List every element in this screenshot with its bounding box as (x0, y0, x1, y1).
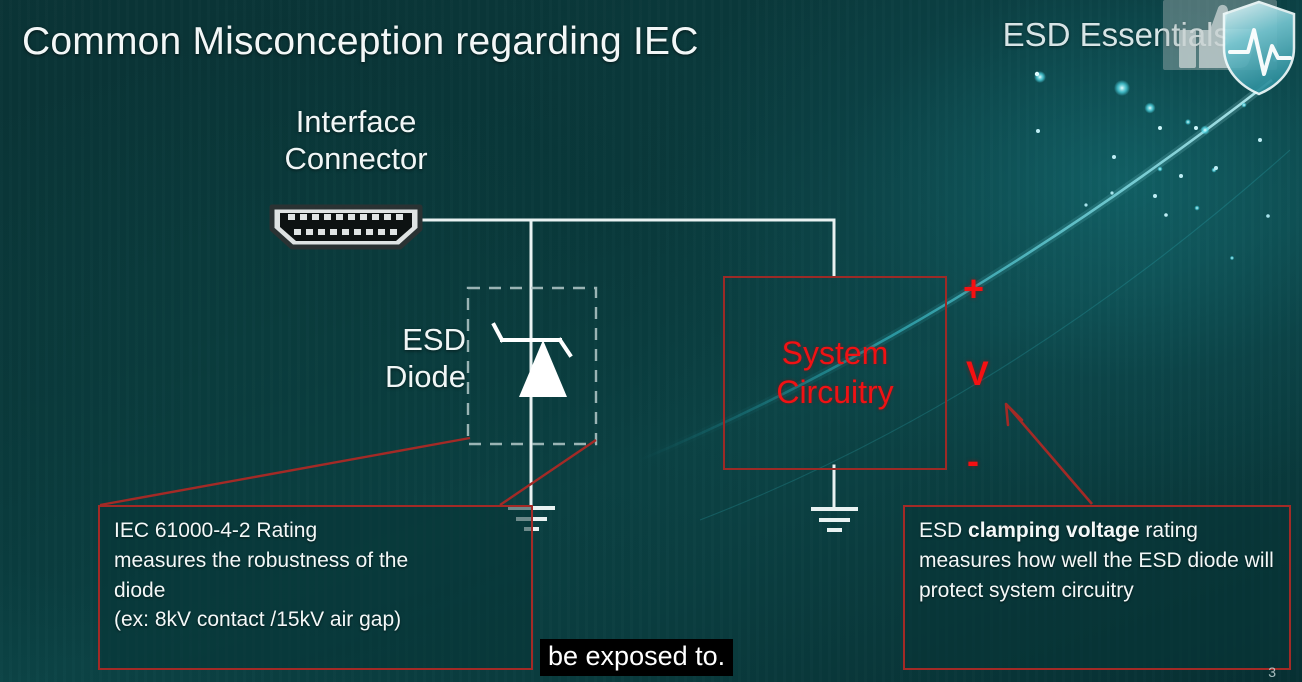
callout-left-line3: diode (114, 576, 518, 606)
voltage-v-marker: V (966, 355, 989, 394)
interface-connector-label-line2: Connector (244, 141, 468, 178)
callout-left-line4: (ex: 8kV contact /15kV air gap) (114, 605, 518, 635)
callout-right-segment2-bold: clamping voltage (968, 519, 1140, 542)
esd-diode-label-line1: ESD (320, 322, 466, 359)
callout-left-line1: IEC 61000-4-2 Rating (114, 516, 518, 546)
callout-right-segment1: ESD (919, 519, 968, 542)
page-number: 3 (1268, 664, 1276, 680)
esd-diode-label: ESD Diode (320, 322, 466, 395)
interface-connector-label-line1: Interface (244, 104, 468, 141)
callout-left-line2: measures the robustness of the (114, 546, 518, 576)
callout-left-leader-lines (100, 438, 596, 505)
voltage-minus-marker: - (967, 440, 979, 482)
system-circuitry-line2: Circuitry (776, 373, 893, 412)
esd-diode-label-line2: Diode (320, 359, 466, 396)
callout-clamping-voltage: ESD clamping voltage rating measures how… (903, 505, 1291, 670)
callout-iec-rating: IEC 61000-4-2 Rating measures the robust… (98, 505, 533, 670)
ground-symbol-icon-system (811, 509, 858, 530)
voltage-plus-marker: + (963, 268, 984, 310)
slide-title: Common Misconception regarding IEC (22, 20, 699, 64)
system-circuitry-label: System Circuitry (776, 334, 893, 412)
hdmi-connector-icon (266, 203, 426, 251)
interface-connector-label: Interface Connector (244, 104, 468, 177)
system-circuitry-line1: System (776, 334, 893, 373)
shield-heartbeat-icon (1220, 0, 1298, 96)
video-caption: be exposed to. (540, 639, 733, 676)
tvs-zener-diode-icon (494, 325, 570, 397)
system-circuitry-box: System Circuitry (723, 276, 947, 470)
callout-right-arrow (1006, 404, 1092, 504)
slide-canvas: Common Misconception regarding IEC ESD E… (0, 0, 1302, 682)
esd-diode-dashed-boundary (468, 288, 596, 444)
